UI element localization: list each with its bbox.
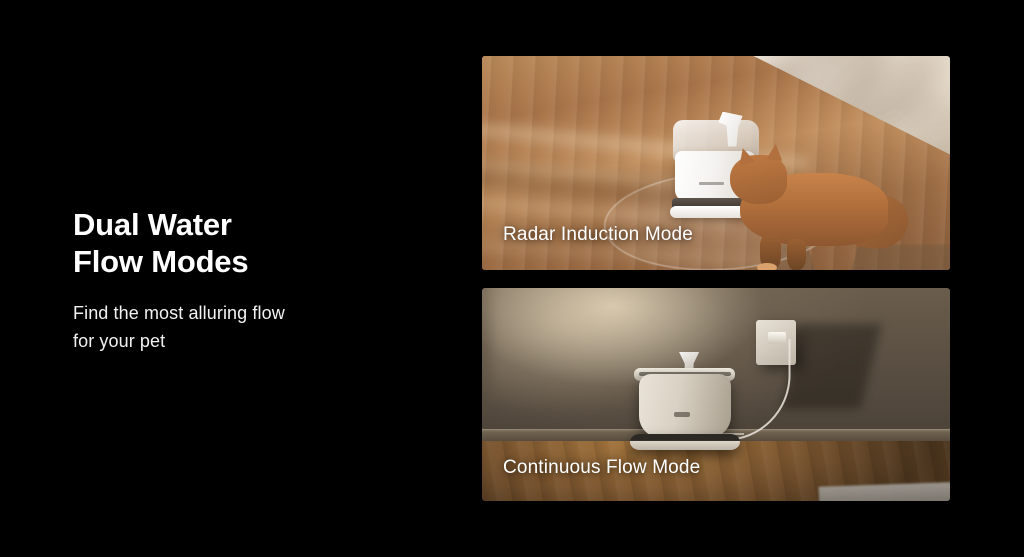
card-caption-continuous-flow: Continuous Flow Mode <box>503 457 700 479</box>
page-title: Dual Water Flow Modes <box>73 206 433 280</box>
cat-leg <box>787 239 806 270</box>
copy-block: Dual Water Flow Modes Find the most allu… <box>73 206 433 355</box>
cat-ear <box>766 143 784 161</box>
brand-logo <box>674 412 691 417</box>
cat-illustration <box>730 152 898 270</box>
fountain-body <box>639 374 731 437</box>
pet-fountain-product <box>634 352 746 454</box>
media-card-continuous-flow[interactable]: Continuous Flow Mode <box>482 288 950 501</box>
cat-paw <box>757 263 777 270</box>
promo-banner: Dual Water Flow Modes Find the most allu… <box>0 0 1024 557</box>
card-caption-radar-induction: Radar Induction Mode <box>503 224 693 246</box>
page-subtitle: Find the most alluring flow for your pet <box>73 299 433 355</box>
media-card-radar-induction[interactable]: Radar Induction Mode <box>482 56 950 270</box>
brand-logo <box>699 182 723 185</box>
fountain-mat <box>630 434 740 450</box>
